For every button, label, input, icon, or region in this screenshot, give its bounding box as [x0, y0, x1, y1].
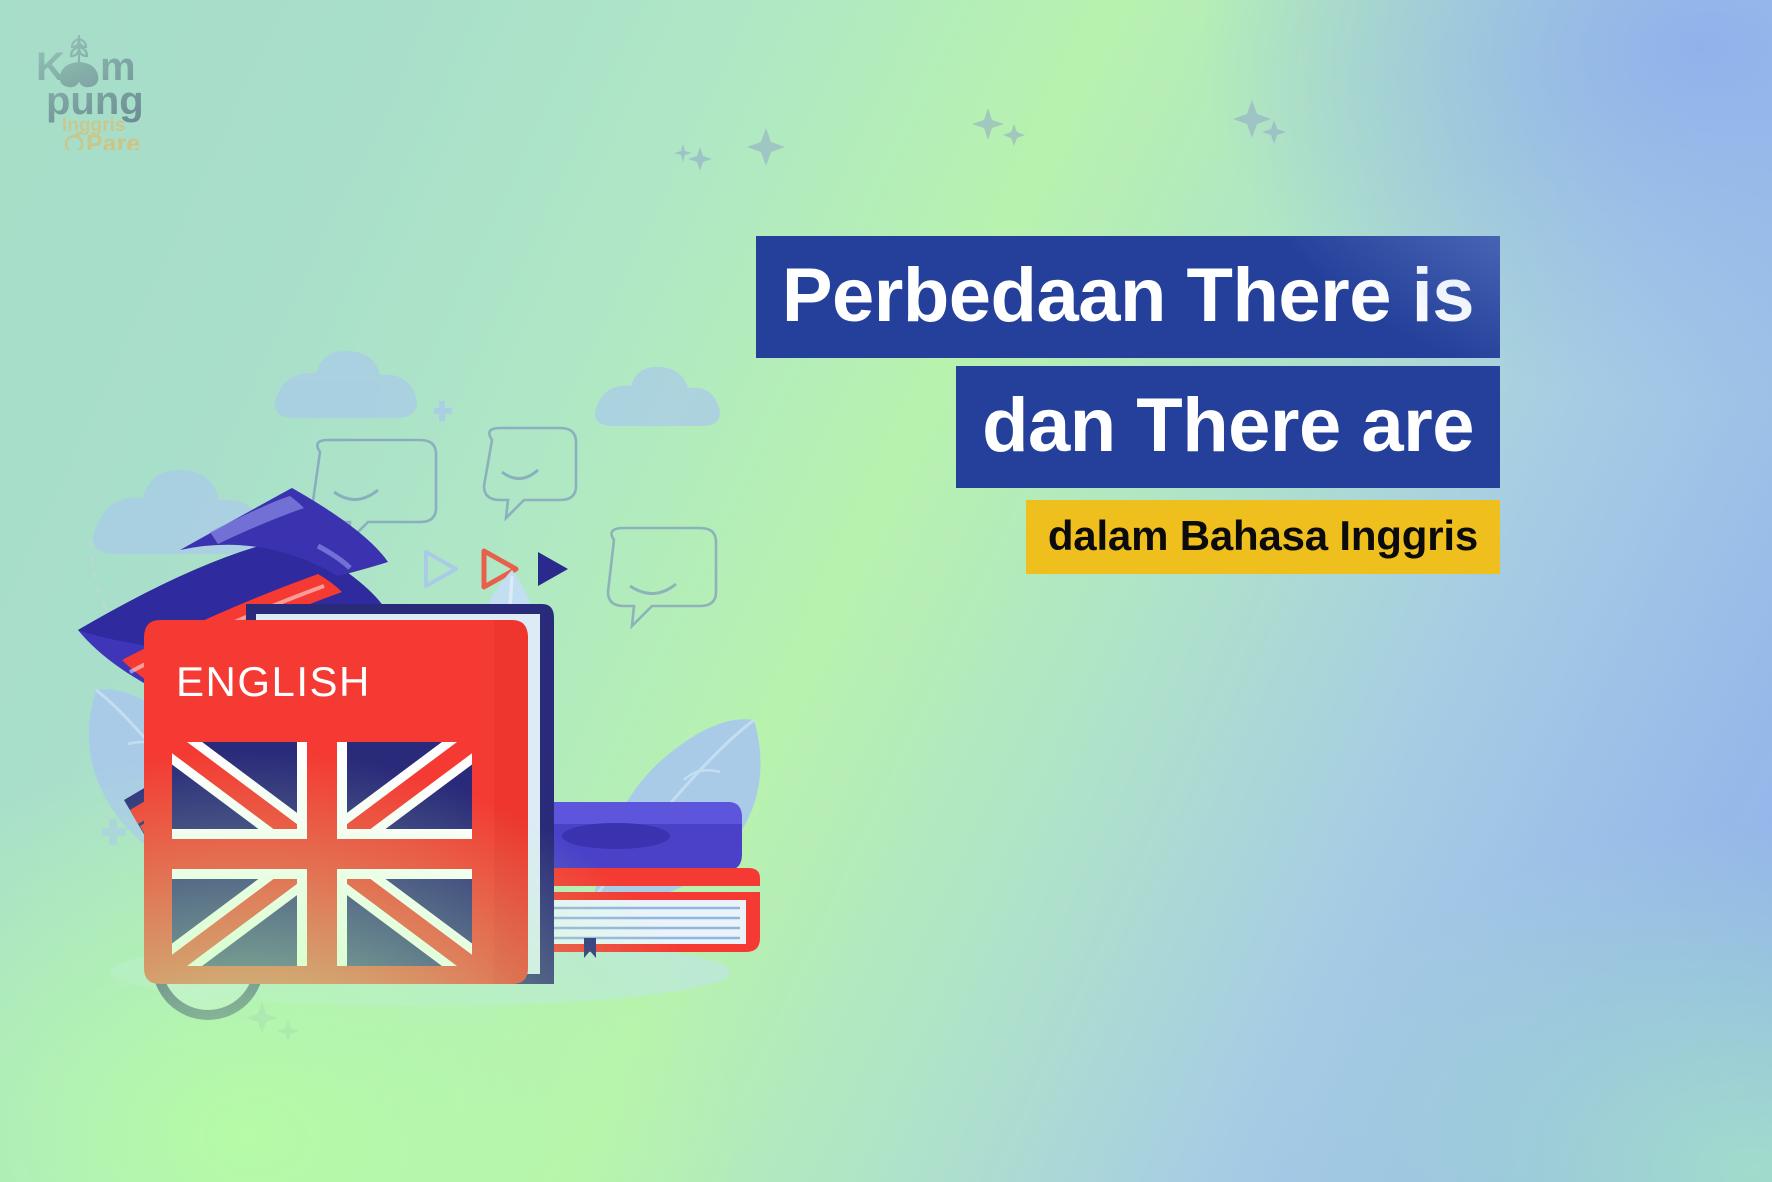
english-dictionary-book: ENGLISH: [144, 604, 554, 984]
union-jack-flag: [172, 742, 472, 966]
title-row-1: Perbedaan There is: [0, 236, 1772, 358]
title-line-1: Perbedaan There is: [756, 236, 1500, 358]
logo-word-pare: Pare: [86, 130, 140, 150]
subtitle-band: dalam Bahasa Inggris: [1026, 500, 1500, 574]
title-line-2: dan There are: [956, 366, 1500, 488]
wheat-sprout-icon: [71, 36, 87, 62]
english-learning-illustration: ENGLISH: [60, 360, 780, 1060]
book-title-english: ENGLISH: [176, 658, 371, 705]
logo-kampung-inggris-pare[interactable]: K m pung Inggris Pare: [22, 28, 202, 150]
banner-canvas: K m pung Inggris Pare Perbedaan There is…: [0, 0, 1772, 1182]
